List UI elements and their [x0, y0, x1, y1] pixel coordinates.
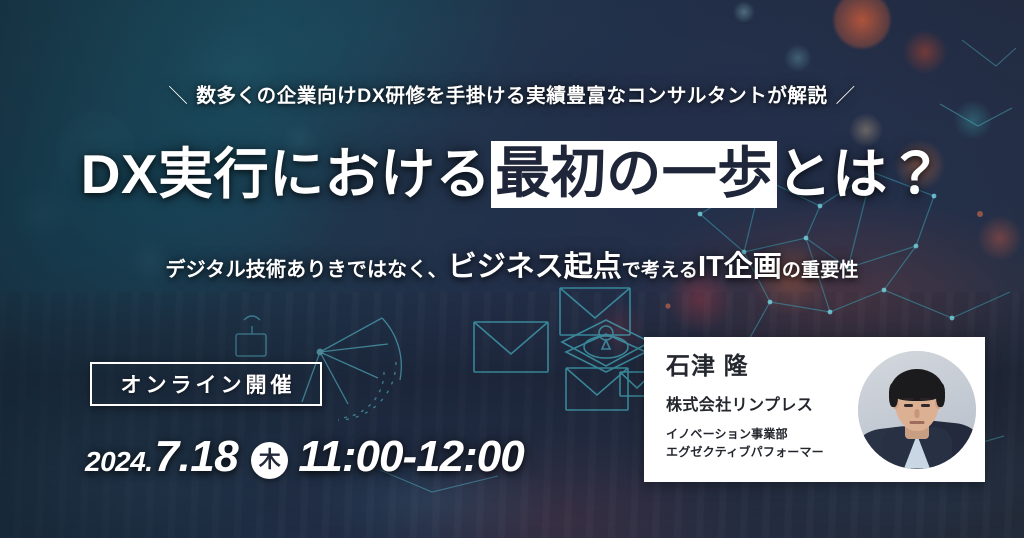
- avatar-nose: [915, 409, 920, 418]
- format-badge-label: オンライン開催: [117, 369, 296, 399]
- avatar-eyebrow-left: [903, 398, 914, 400]
- speaker-card: 石津 隆 株式会社リンプレス イノベーション事業部 エグゼクティブパフォーマー: [644, 337, 985, 482]
- schedule: 2024. 7.18 木 11:00-12:00: [85, 432, 524, 483]
- headline-highlight: 最初の一歩: [491, 141, 777, 208]
- subheading-emphasis-2: IT企画: [698, 251, 782, 283]
- avatar-eye-right: [921, 404, 930, 407]
- schedule-day-of-week-badge: 木: [251, 442, 288, 479]
- schedule-year: 2024.: [85, 446, 153, 478]
- subheading: デジタル技術ありきではなく、ビジネス起点で考えるIT企画の重要性: [0, 243, 1024, 285]
- headline-prefix: DX実行における: [81, 143, 491, 205]
- speaker-department: イノベーション事業部: [666, 426, 855, 443]
- schedule-day-of-week: 木: [259, 449, 281, 471]
- subheading-part-2: で考える: [622, 260, 698, 281]
- speaker-photo-wrap: [855, 337, 985, 482]
- avatar-hair-left: [889, 383, 898, 407]
- speaker-name: 石津 隆: [666, 354, 855, 380]
- subheading-part-3: の重要性: [782, 260, 859, 281]
- page-title: DX実行における最初の一歩とは？: [0, 141, 1024, 208]
- webinar-banner: ＼ 数多くの企業向けDX研修を手掛ける実績豊富なコンサルタントが解説 ／ DX実…: [0, 0, 1024, 538]
- avatar: [858, 351, 976, 469]
- speaker-info: 石津 隆 株式会社リンプレス イノベーション事業部 エグゼクティブパフォーマー: [644, 337, 855, 482]
- format-badge-online: オンライン開催: [90, 362, 322, 406]
- speaker-role: イノベーション事業部 エグゼクティブパフォーマー: [666, 426, 855, 461]
- avatar-hair-right: [936, 383, 945, 407]
- schedule-time: 11:00-12:00: [298, 432, 523, 482]
- tagline-text: 数多くの企業向けDX研修を手掛ける実績豊富なコンサルタントが解説: [196, 85, 827, 107]
- tagline-slash-right: ／: [834, 79, 858, 108]
- avatar-eye-left: [904, 404, 913, 407]
- avatar-mouth: [910, 421, 925, 424]
- tagline: ＼ 数多くの企業向けDX研修を手掛ける実績豊富なコンサルタントが解説 ／: [0, 79, 1024, 108]
- tagline-slash-left: ＼: [166, 79, 190, 108]
- headline-suffix: とは？: [777, 143, 944, 205]
- speaker-company: 株式会社リンプレス: [666, 391, 855, 415]
- schedule-day: 7.18: [155, 432, 239, 482]
- subheading-emphasis-1: ビジネス起点: [448, 251, 622, 283]
- avatar-eyebrow-right: [920, 398, 931, 400]
- subheading-part-1: デジタル技術ありきではなく、: [165, 259, 447, 281]
- speaker-title: エグゼクティブパフォーマー: [666, 444, 855, 461]
